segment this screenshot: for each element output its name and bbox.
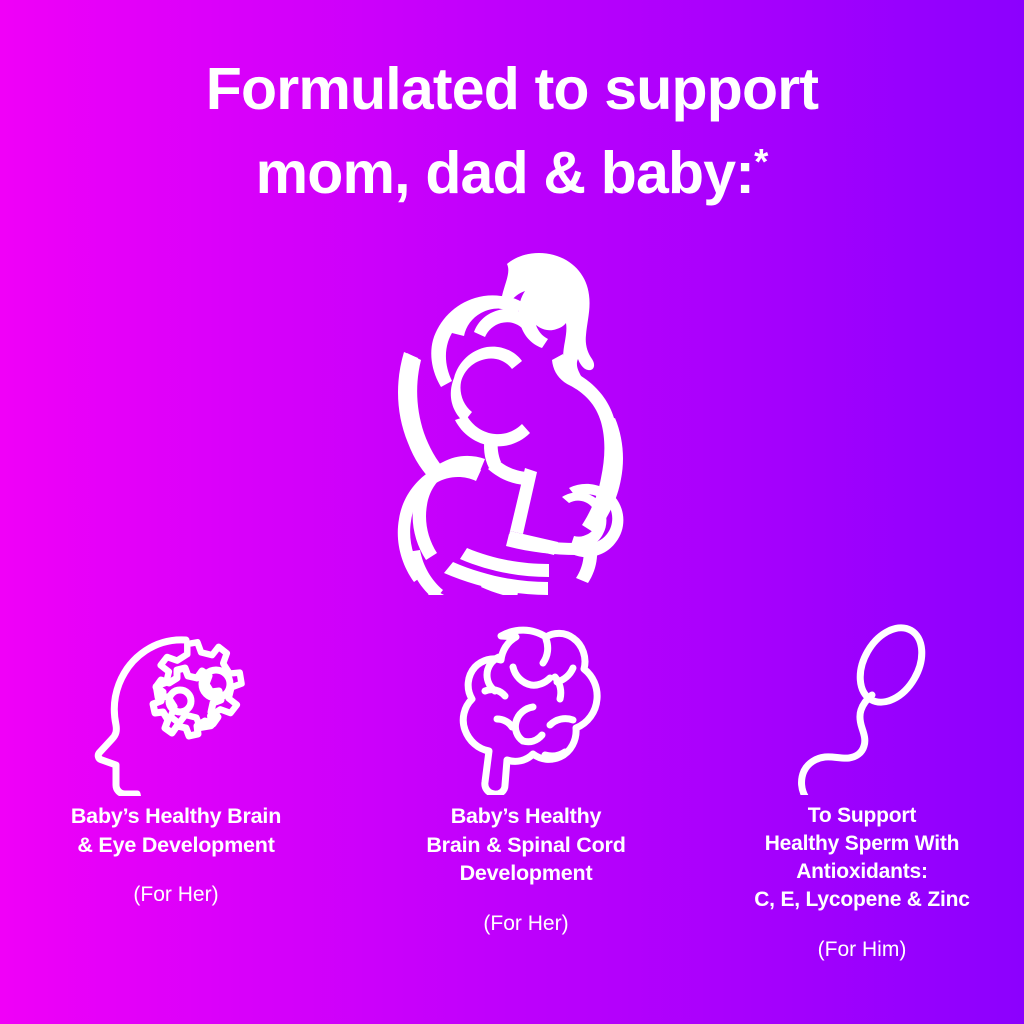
page-headline: Formulated to support mom, dad & baby:*: [0, 48, 1024, 216]
head-with-gears-icon-wrap: [86, 612, 266, 802]
sperm-icon: [788, 620, 936, 795]
headline-line-1: Formulated to support: [0, 48, 1024, 132]
headline-line-2-text: mom, dad & baby:: [256, 140, 755, 206]
benefit-title: Baby’s Healthy Brain & Eye Development: [71, 802, 281, 859]
brain-icon: [437, 619, 615, 795]
benefit-title: To Support Healthy Sperm With Antioxidan…: [754, 802, 970, 914]
head-with-gears-icon: [86, 618, 266, 796]
benefit-title: Baby’s Healthy Brain & Spinal Cord Devel…: [426, 802, 625, 888]
benefit-column-her-eye: Baby’s Healthy Brain & Eye Development (…: [0, 612, 352, 908]
benefits-row: Baby’s Healthy Brain & Eye Development (…: [0, 612, 1024, 963]
benefit-subtitle: (For Her): [483, 910, 568, 937]
benefit-column-him-sperm: To Support Healthy Sperm With Antioxidan…: [700, 612, 1024, 963]
brain-icon-wrap: [437, 612, 615, 802]
footnote-asterisk: *: [754, 141, 768, 182]
sperm-icon-wrap: [788, 612, 936, 802]
benefit-column-her-spine: Baby’s Healthy Brain & Spinal Cord Devel…: [352, 612, 700, 937]
benefit-subtitle: (For Her): [133, 881, 218, 908]
family-mother-father-baby-icon: [357, 250, 667, 595]
family-illustration: [357, 250, 667, 595]
headline-line-2: mom, dad & baby:*: [0, 132, 1024, 216]
benefit-subtitle: (For Him): [818, 936, 907, 963]
